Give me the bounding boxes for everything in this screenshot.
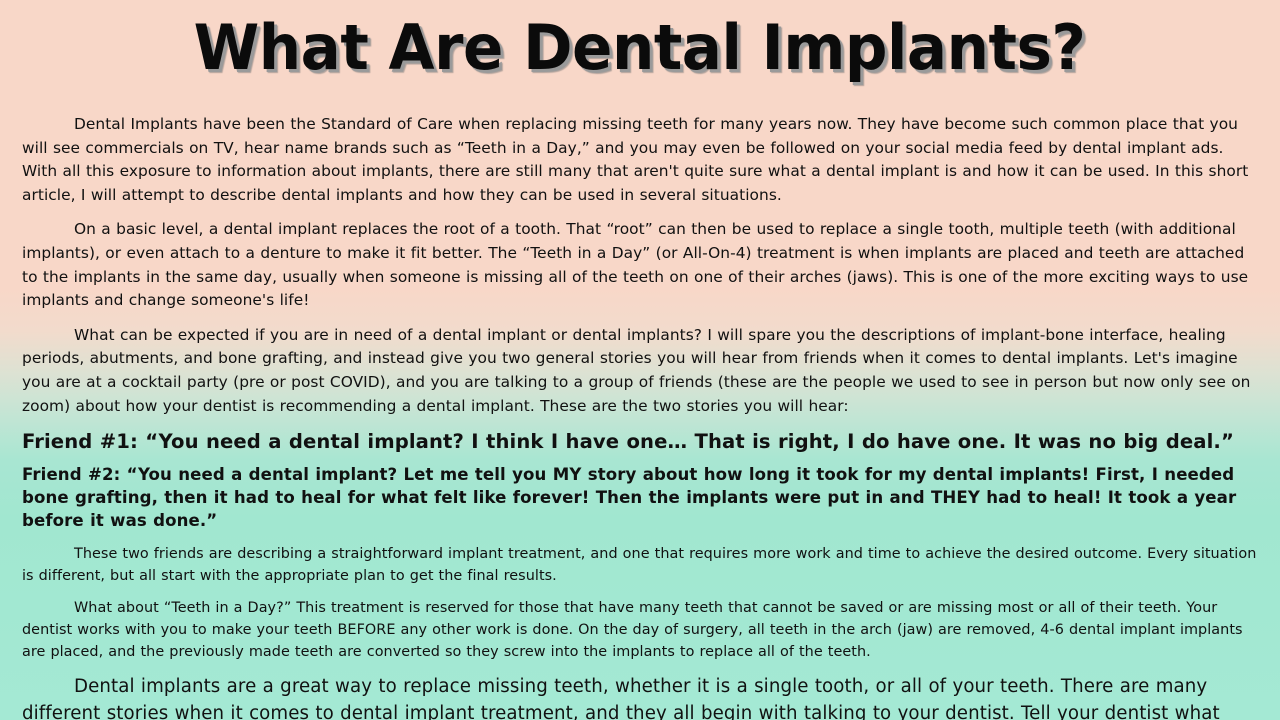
title-container: What Are Dental Implants? (0, 2, 1280, 94)
paragraph-what-to-expect: What can be expected if you are in need … (22, 324, 1262, 418)
paragraph-two-friends-summary: These two friends are describing a strai… (22, 544, 1262, 587)
paragraph-basic-level: On a basic level, a dental implant repla… (22, 218, 1262, 312)
friend-two-quote: Friend #2: “You need a dental implant? L… (22, 463, 1262, 532)
paragraph-teeth-in-a-day: What about “Teeth in a Day?” This treatm… (22, 598, 1262, 663)
paragraph-conclusion: Dental implants are a great way to repla… (22, 674, 1262, 720)
slide-canvas: What Are Dental Implants? Dental Implant… (0, 0, 1280, 720)
friend-one-quote: Friend #1: “You need a dental implant? I… (22, 429, 1262, 455)
page-title: What Are Dental Implants? (194, 15, 1086, 80)
article-body: Dental Implants have been the Standard o… (22, 113, 1262, 720)
paragraph-intro: Dental Implants have been the Standard o… (22, 113, 1262, 207)
